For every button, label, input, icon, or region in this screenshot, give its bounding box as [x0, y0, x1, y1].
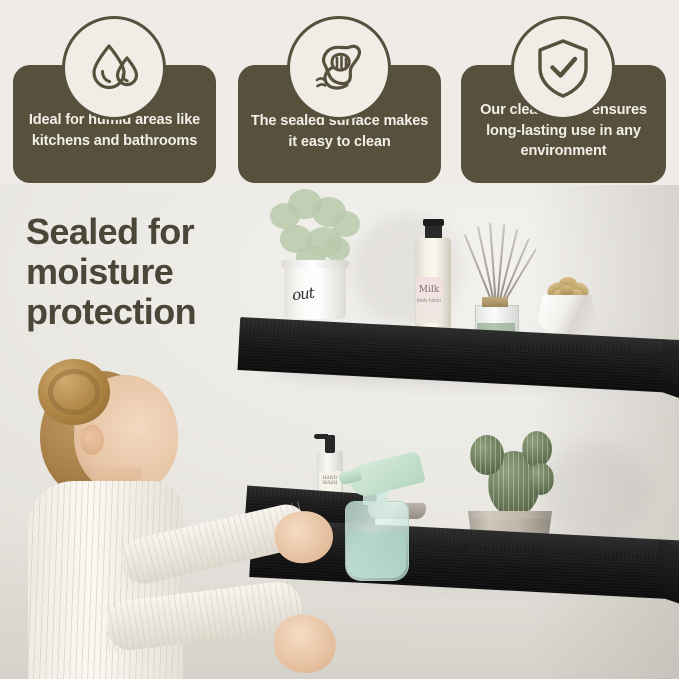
spray-bottle-liquid: [348, 532, 406, 578]
lotion-bottle: Milk body lotion: [415, 237, 451, 337]
planter-rim: [281, 260, 349, 268]
child-hair-bun: [38, 359, 110, 425]
child-supporting-hand: [271, 612, 339, 676]
shield-check-icon: [511, 16, 615, 120]
spray-bottle-body: [345, 501, 409, 581]
hand-wiping-cloth-icon: [287, 16, 391, 120]
child-ear: [80, 425, 104, 455]
cactus-plant: [466, 423, 556, 519]
bottom-shelf-end-cap: [656, 540, 679, 605]
headline: Sealed for moisture protection: [26, 212, 266, 332]
child-subject: [0, 363, 338, 679]
bottle-label-subtitle: body lotion: [416, 298, 442, 304]
infographic-page: out Milk body lotion: [0, 0, 679, 679]
reed-diffuser: [465, 233, 525, 338]
greenery-foliage: [262, 187, 372, 269]
white-planter: out: [284, 263, 346, 319]
cactus-wall-shadow: [540, 443, 650, 539]
bottle-label: Milk body lotion: [416, 277, 442, 323]
diffuser-collar: [482, 297, 508, 307]
bottle-cap: [423, 219, 444, 226]
feature-cards: Ideal for humid areas like kitchens and …: [0, 0, 679, 190]
spray-bottle: [333, 451, 425, 581]
top-shelf-end-cap: [660, 339, 679, 400]
bottle-label-title: Milk: [416, 285, 442, 295]
water-drops-icon: [62, 16, 166, 120]
planter-script-text: out: [291, 284, 315, 305]
bottle-neck: [425, 224, 442, 238]
